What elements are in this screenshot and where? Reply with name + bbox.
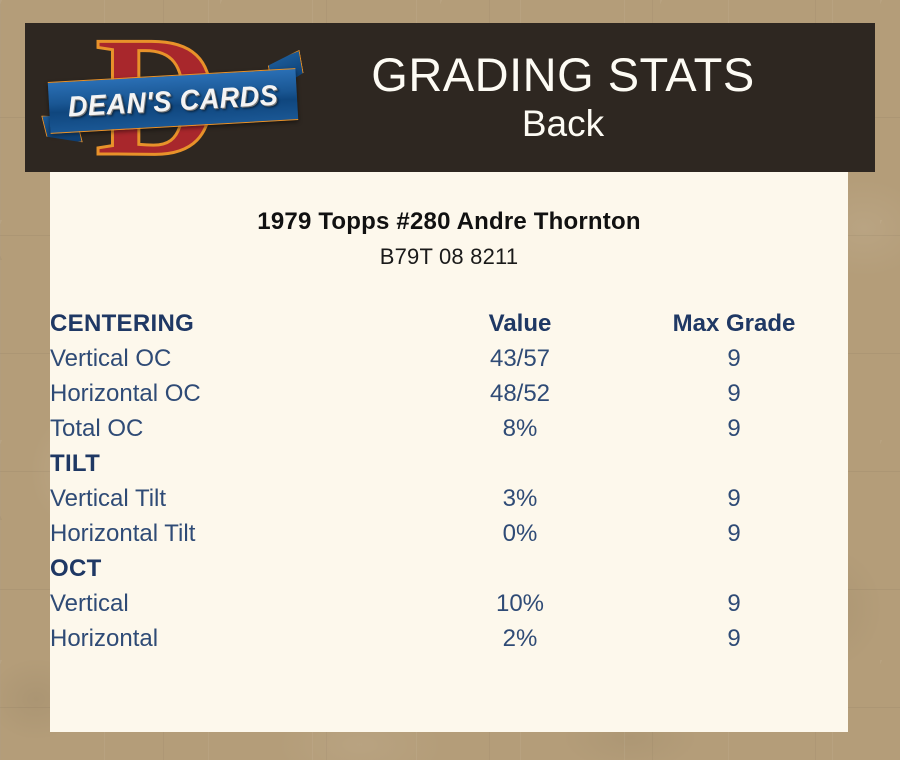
section-title: TILT (50, 446, 420, 481)
card-title: 1979 Topps #280 Andre Thornton (50, 208, 848, 236)
column-header-max-grade: Max Grade (620, 306, 848, 341)
stat-label: Vertical OC (50, 341, 420, 376)
section-header-row: OCT (50, 551, 848, 586)
column-header-value: Value (420, 306, 620, 341)
section-title: OCT (50, 551, 420, 586)
stat-value: 8% (420, 411, 620, 446)
deans-cards-logo[interactable]: D DEAN'S CARDS (49, 28, 297, 168)
column-header-max-grade (620, 551, 848, 586)
stat-max-grade: 9 (620, 481, 848, 516)
table-row: Horizontal OC48/529 (50, 376, 848, 411)
card-sku: B79T 08 8211 (50, 244, 848, 270)
section-header-row: TILT (50, 446, 848, 481)
stat-label: Horizontal (50, 621, 420, 656)
stat-value: 10% (420, 586, 620, 621)
stat-value: 0% (420, 516, 620, 551)
stat-value: 2% (420, 621, 620, 656)
stat-value: 48/52 (420, 376, 620, 411)
page-title: GRADING STATS (297, 50, 829, 101)
stat-label: Horizontal Tilt (50, 516, 420, 551)
table-row: Vertical Tilt3%9 (50, 481, 848, 516)
stat-value: 3% (420, 481, 620, 516)
stat-max-grade: 9 (620, 341, 848, 376)
table-row: Total OC8%9 (50, 411, 848, 446)
content-panel: 1979 Topps #280 Andre Thornton B79T 08 8… (50, 172, 848, 732)
header-titles: GRADING STATS Back (297, 50, 875, 144)
column-header-value (420, 551, 620, 586)
logo-ribbon: DEAN'S CARDS (48, 68, 299, 134)
stat-label: Horizontal OC (50, 376, 420, 411)
page-subtitle: Back (297, 103, 829, 144)
column-header-value (420, 446, 620, 481)
column-header-max-grade (620, 446, 848, 481)
logo-ribbon-text: DEAN'S CARDS (67, 78, 279, 123)
stat-value: 43/57 (420, 341, 620, 376)
stat-max-grade: 9 (620, 586, 848, 621)
table-row: Horizontal2%9 (50, 621, 848, 656)
table-row: Vertical10%9 (50, 586, 848, 621)
stat-label: Vertical (50, 586, 420, 621)
stat-label: Vertical Tilt (50, 481, 420, 516)
grading-stats-table: CENTERINGValueMax GradeVertical OC43/579… (50, 306, 848, 656)
table-row: Horizontal Tilt0%9 (50, 516, 848, 551)
section-header-row: CENTERINGValueMax Grade (50, 306, 848, 341)
stat-max-grade: 9 (620, 621, 848, 656)
stat-label: Total OC (50, 411, 420, 446)
stat-max-grade: 9 (620, 411, 848, 446)
stat-max-grade: 9 (620, 376, 848, 411)
section-title: CENTERING (50, 306, 420, 341)
header-band: D DEAN'S CARDS GRADING STATS Back (25, 23, 875, 172)
grading-stats-body: CENTERINGValueMax GradeVertical OC43/579… (50, 306, 848, 656)
stat-max-grade: 9 (620, 516, 848, 551)
table-row: Vertical OC43/579 (50, 341, 848, 376)
